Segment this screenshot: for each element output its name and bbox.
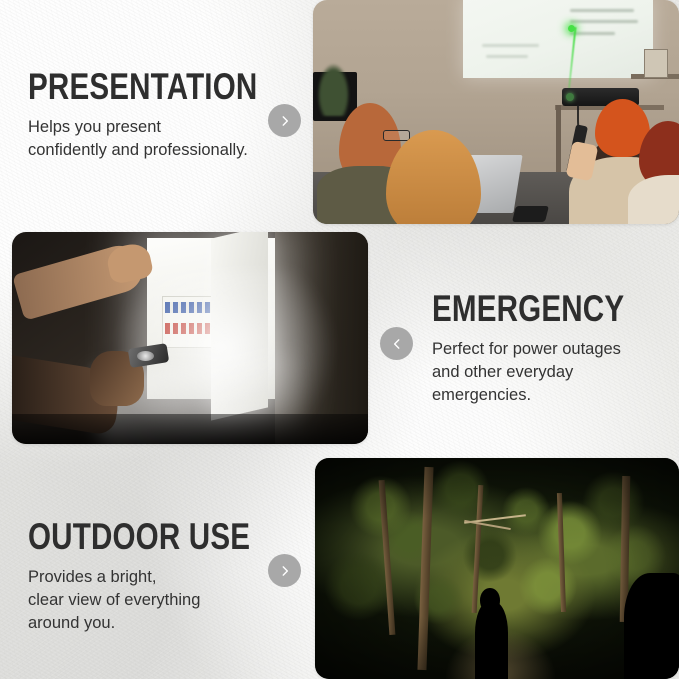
floor-shadow [12,414,368,444]
phone-on-table [512,206,549,222]
outdoor-photo [315,458,679,679]
chevron-right-icon [278,564,292,578]
emergency-body: Perfect for power outages and other ever… [432,338,664,406]
projection-screen [463,0,653,78]
plant [317,63,350,117]
slide-text-line [482,44,539,47]
outdoor-heading: OUTDOOR USE [28,518,224,555]
slide-text-line [570,9,635,12]
outdoor-body: Provides a bright, clear view of everyth… [28,566,273,634]
vignette [315,458,679,679]
slide-text-line [486,55,528,58]
emergency-heading: EMERGENCY [432,290,618,327]
projector-lens [566,93,574,101]
chevron-right-icon [278,114,292,128]
laser-dot [568,25,575,32]
emergency-photo [12,232,368,444]
slide-text-line [570,20,639,23]
chevron-left-icon [390,337,404,351]
emergency-prev-button[interactable] [380,327,413,360]
presentation-photo [313,0,679,224]
slide-text-line [570,32,616,35]
eyeglasses [383,130,411,141]
emergency-text-block: EMERGENCY Perfect for power outages and … [432,290,664,406]
presentation-text-block: PRESENTATION Helps you present confident… [28,68,278,162]
presentation-body: Helps you present confidently and profes… [28,116,278,162]
outdoor-text-block: OUTDOOR USE Provides a bright, clear vie… [28,518,273,634]
presentation-heading: PRESENTATION [28,68,228,105]
presentation-next-button[interactable] [268,104,301,137]
shelf-book [644,49,668,78]
outdoor-next-button[interactable] [268,554,301,587]
